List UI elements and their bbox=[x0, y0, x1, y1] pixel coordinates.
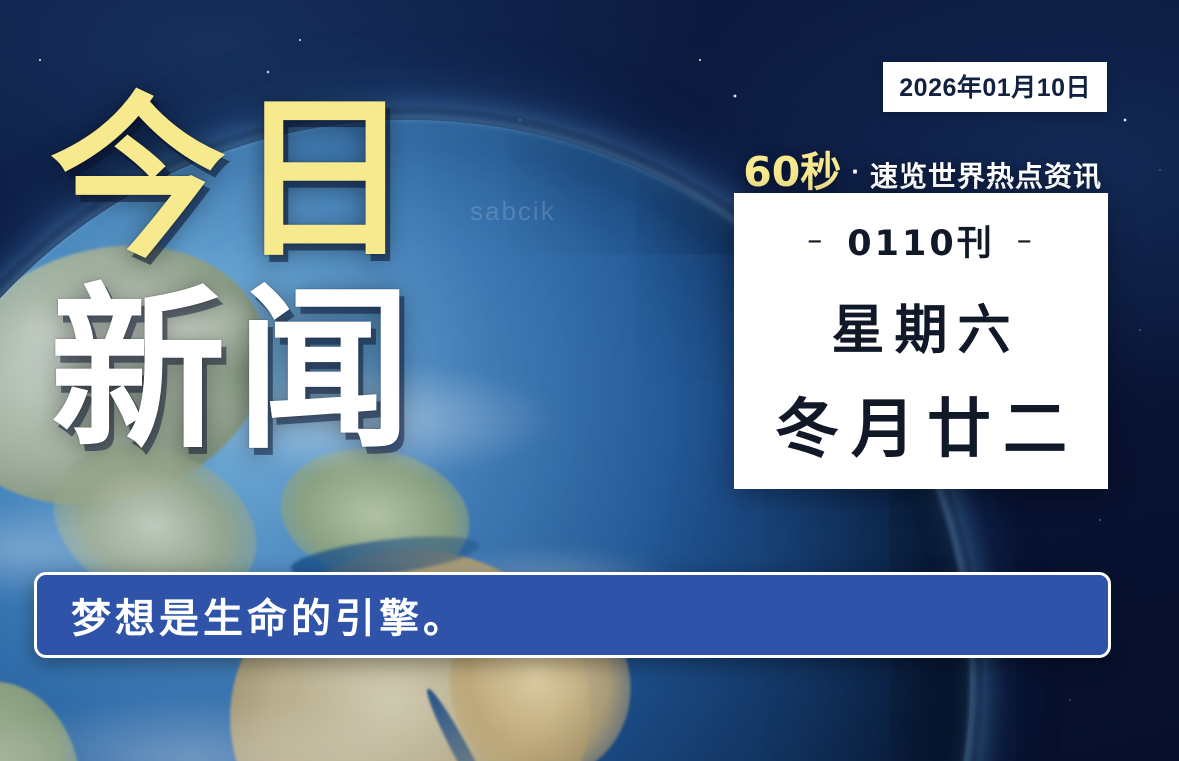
tagline-seconds: 60秒 bbox=[743, 138, 841, 198]
dash-left-icon: – bbox=[807, 223, 825, 258]
news-poster: sabcik 今日 新闻 2026年01月10日 60秒 · 速览世界热点资讯 … bbox=[0, 0, 1179, 761]
quote-bar: 梦想是生命的引擎。 bbox=[34, 572, 1111, 658]
tagline-separator-dot: · bbox=[851, 156, 860, 187]
weekday-label: 星期六 bbox=[822, 288, 1021, 364]
headline-line-2: 新闻 bbox=[50, 287, 422, 456]
date-chip: 2026年01月10日 bbox=[883, 62, 1107, 112]
headline-line-1: 今日 bbox=[50, 96, 422, 265]
quote-text: 梦想是生命的引擎。 bbox=[37, 586, 467, 644]
headline: 今日 新闻 bbox=[50, 96, 422, 456]
tagline-text: 速览世界热点资讯 bbox=[870, 155, 1102, 195]
lunar-date-label: 冬月廿二 bbox=[763, 378, 1079, 470]
dash-right-icon: – bbox=[1017, 223, 1035, 258]
watermark: sabcik bbox=[470, 196, 556, 227]
issue-card: – 0110刊 – 星期六 冬月廿二 bbox=[734, 193, 1108, 489]
issue-number: 0110刊 bbox=[847, 215, 994, 266]
issue-row: – 0110刊 – bbox=[807, 215, 1034, 266]
tagline: 60秒 · 速览世界热点资讯 bbox=[743, 138, 1102, 198]
